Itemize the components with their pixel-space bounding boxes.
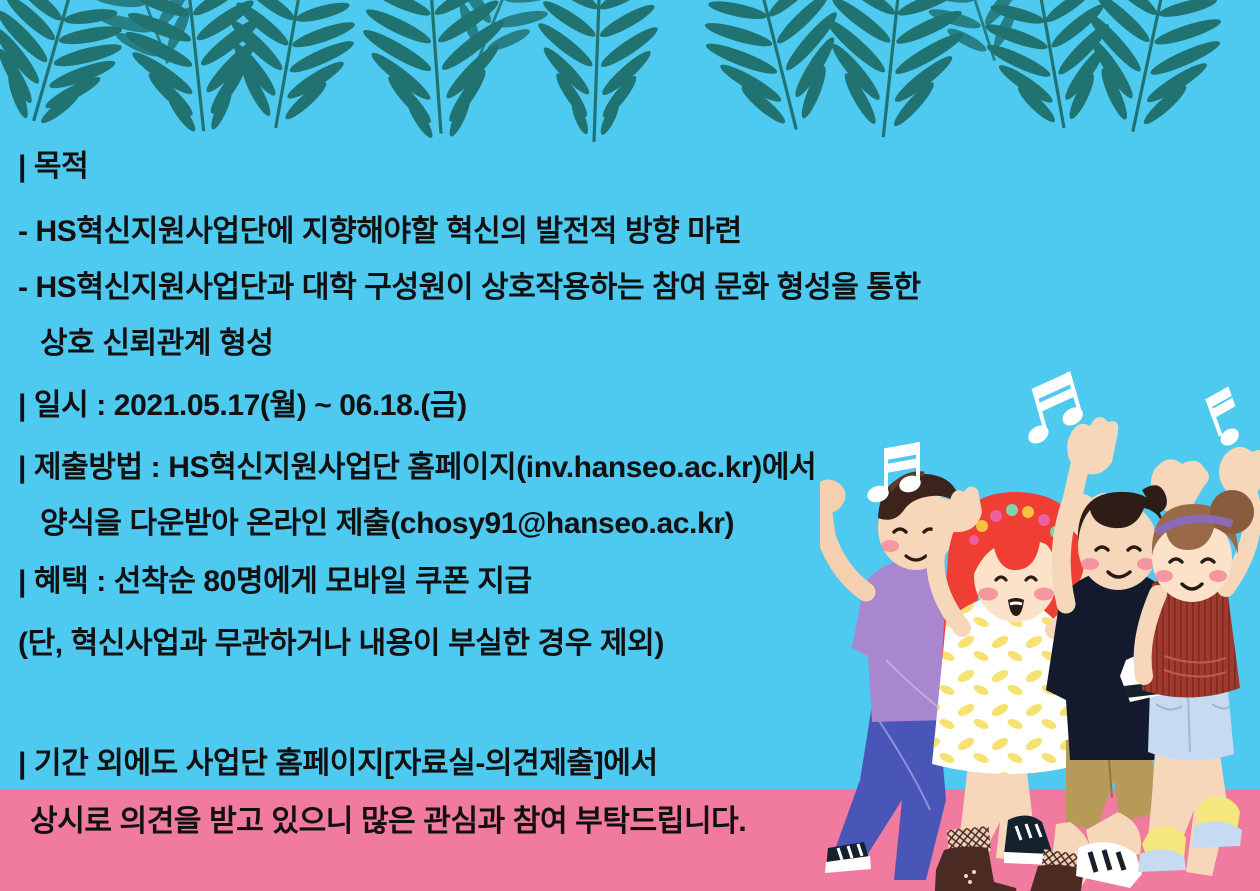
copy-line-exclusion-note: (단, 혁신사업과 무관하거나 내용이 부실한 경우 제외) (18, 627, 664, 661)
copy-line-purpose-2-cont: 상호 신뢰관계 형성 (40, 327, 273, 361)
copy-line-purpose-heading: | 목적 (18, 150, 88, 184)
poster-root: | 목적 - HS혁신지원사업단에 지향해야할 혁신의 발전적 방향 마련 - … (0, 0, 1260, 891)
copy-line-period: | 일시 : 2021.05.17(월) ~ 06.18.(금) (18, 389, 467, 423)
copy-line-purpose-1: - HS혁신지원사업단에 지향해야할 혁신의 발전적 방향 마련 (18, 215, 742, 249)
poster-copy: | 목적 - HS혁신지원사업단에 지향해야할 혁신의 발전적 방향 마련 - … (0, 0, 1260, 891)
copy-line-benefit: | 혜택 : 선착순 80명에게 모바일 쿠폰 지급 (18, 565, 532, 599)
copy-line-submission-email: 양식을 다운받아 온라인 제출(chosy91@hanseo.ac.kr) (40, 507, 734, 541)
copy-line-purpose-2: - HS혁신지원사업단과 대학 구성원이 상호작용하는 참여 문화 형성을 통한 (18, 271, 921, 305)
copy-line-always-open: | 기간 외에도 사업단 홈페이지[자료실-의견제출]에서 (18, 747, 658, 781)
copy-line-submission-method: | 제출방법 : HS혁신지원사업단 홈페이지(inv.hanseo.ac.kr… (18, 451, 816, 485)
copy-line-banner-request: 상시로 의견을 받고 있으니 많은 관심과 참여 부탁드립니다. (30, 805, 746, 839)
